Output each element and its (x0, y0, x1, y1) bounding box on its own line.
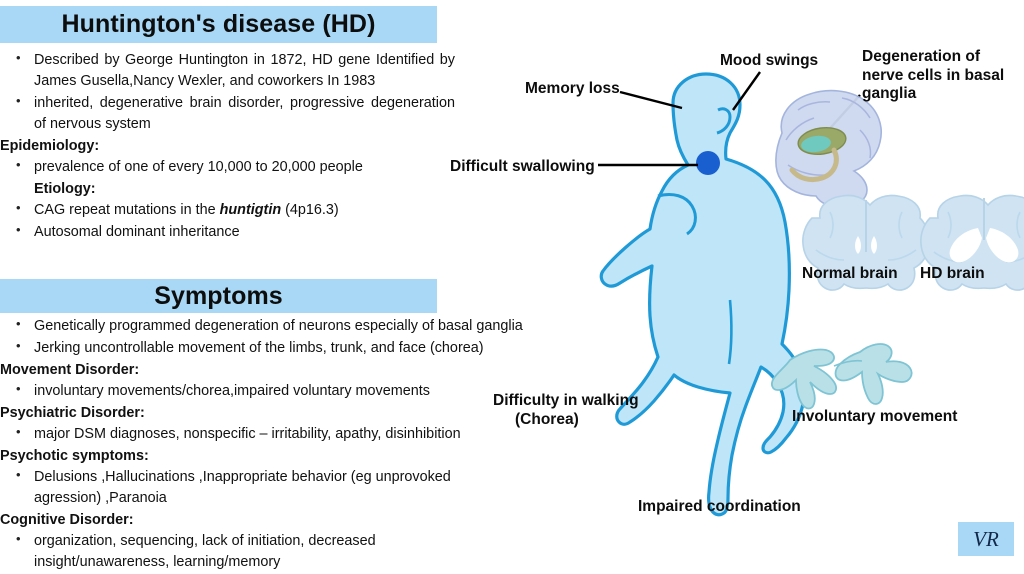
etiology-text-post: (4p16.3) (281, 202, 339, 218)
label-difficulty-walking-line2: (Chorea) (493, 411, 653, 430)
page-title: Huntington's disease (HD) (0, 6, 437, 43)
throat-marker-dot (696, 151, 720, 175)
symptoms-section-title: Symptoms (0, 279, 437, 313)
label-difficulty-walking-line1: Difficulty in walking (493, 392, 639, 409)
label-memory-loss: Memory loss (525, 80, 620, 99)
label-difficult-swallowing: Difficult swallowing (450, 158, 595, 177)
label-normal-brain: Normal brain (802, 265, 898, 284)
etiology-text-pre: Autosomal dominant inheritance (34, 224, 240, 240)
etiology-text-pre: CAG repeat mutations in the (34, 202, 220, 218)
label-difficulty-walking: Difficulty in walking (Chorea) (493, 392, 653, 429)
label-hd-brain: HD brain (920, 265, 985, 284)
label-impaired-coordination: Impaired coordination (638, 498, 801, 517)
watermark-logo: VR (958, 522, 1014, 556)
label-degeneration-basal-ganglia: Degeneration of nerve cells in basal gan… (862, 48, 1022, 104)
label-involuntary-movement: Involuntary movement (792, 408, 957, 427)
label-mood-swings: Mood swings (720, 52, 818, 71)
illustration-column: Memory loss Mood swings Difficult swallo… (430, 0, 1024, 568)
human-figure-illustration (601, 74, 804, 515)
slide-canvas: Huntington's disease (HD) Described by G… (0, 0, 1024, 568)
lateral-brain-illustration (776, 91, 881, 208)
gene-name: huntigtin (220, 202, 282, 218)
